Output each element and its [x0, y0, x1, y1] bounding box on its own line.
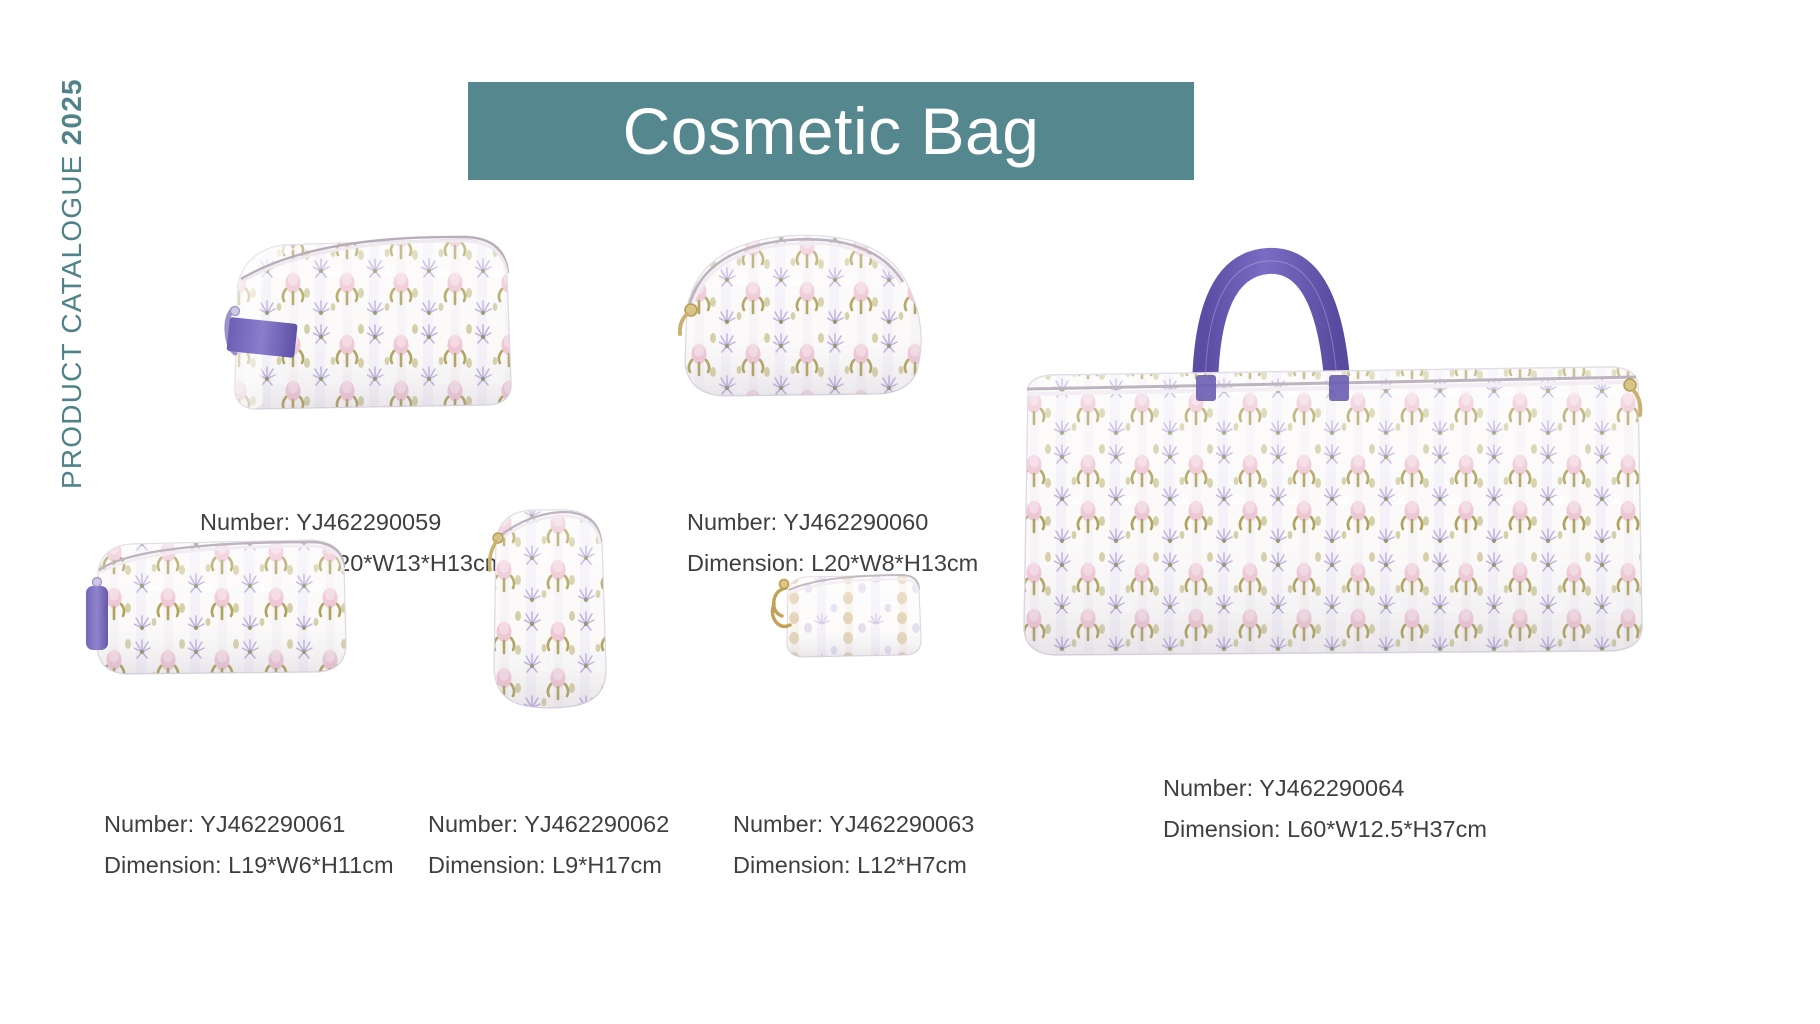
bag-body-5: [787, 575, 921, 657]
title-banner: Cosmetic Bag: [468, 82, 1194, 180]
product-dimension-5: Dimension: L12*H7cm: [733, 845, 974, 886]
product-caption-5: Number: YJ462290063 Dimension: L12*H7cm: [733, 804, 974, 886]
catalogue-side-label-main: PRODUCT CATALOGUE: [56, 145, 87, 489]
product-dimension-4: Dimension: L9*H17cm: [428, 845, 669, 886]
product-number-6: Number: YJ462290064: [1163, 768, 1487, 809]
page-title: Cosmetic Bag: [623, 98, 1040, 164]
catalogue-side-label-text: PRODUCT CATALOGUE 2025: [56, 39, 88, 489]
product-caption-4: Number: YJ462290062 Dimension: L9*H17cm: [428, 804, 669, 886]
product-image-3: [80, 528, 370, 688]
bag-body-2: [685, 235, 921, 396]
bag-body-3: [97, 540, 346, 674]
product-dimension-6: Dimension: L60*W12.5*H37cm: [1163, 809, 1487, 850]
product-image-2: [665, 222, 945, 412]
product-dimension-3: Dimension: L19*W6*H11cm: [104, 845, 394, 886]
catalogue-side-label-year: 2025: [56, 78, 87, 145]
product-image-5: [760, 564, 940, 674]
product-number-5: Number: YJ462290063: [733, 804, 974, 845]
product-image-1: [205, 213, 525, 433]
product-number-2: Number: YJ462290060: [687, 502, 978, 543]
catalogue-side-label: PRODUCT CATALOGUE 2025: [44, 40, 98, 490]
product-image-6: [1000, 225, 1650, 685]
zipper-pull-3: [86, 578, 108, 651]
product-caption-3: Number: YJ462290061 Dimension: L19*W6*H1…: [104, 804, 394, 886]
product-number-3: Number: YJ462290061: [104, 804, 394, 845]
bag-body-6: [1024, 367, 1642, 655]
product-caption-6: Number: YJ462290064 Dimension: L60*W12.5…: [1163, 768, 1487, 850]
product-number-4: Number: YJ462290062: [428, 804, 669, 845]
product-image-4: [470, 500, 630, 720]
bag-body-4: [494, 510, 606, 708]
